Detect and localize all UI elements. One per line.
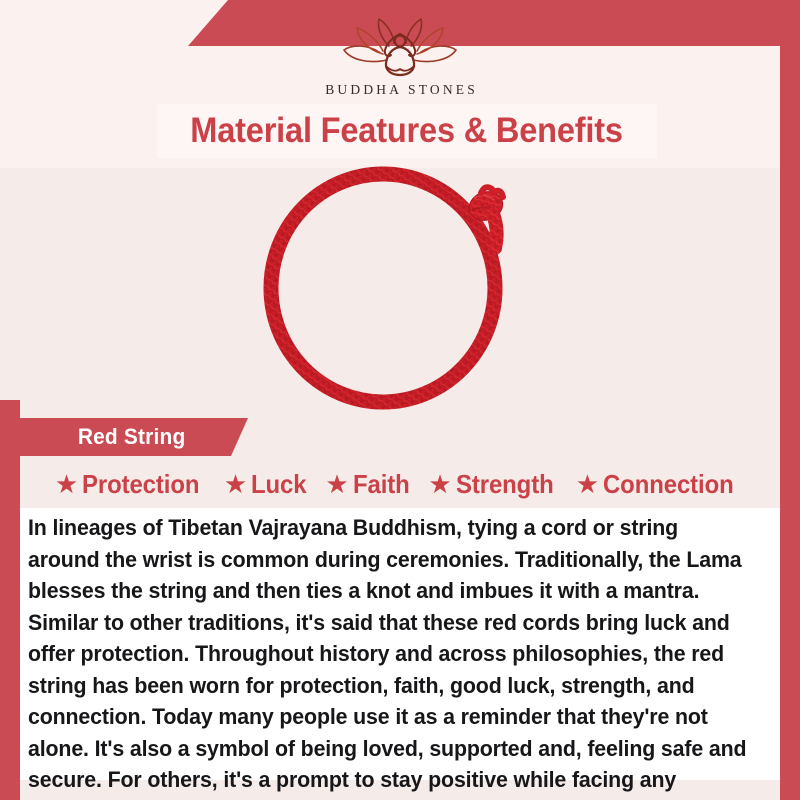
star-icon: ★ bbox=[224, 471, 247, 497]
benefit-label: Protection bbox=[82, 469, 199, 500]
benefit-label: Strength bbox=[456, 469, 554, 500]
product-image-area bbox=[0, 168, 800, 418]
benefit-item-connection: ★ Connection bbox=[569, 469, 752, 500]
infographic-page: BUDDHA STONES Material Features & Benefi… bbox=[0, 0, 800, 800]
star-icon: ★ bbox=[576, 471, 599, 497]
brand-logo: BUDDHA STONES bbox=[0, 14, 800, 98]
title-banner: Material Features & Benefits bbox=[157, 104, 657, 158]
star-icon: ★ bbox=[325, 471, 348, 497]
product-label-banner: Red String bbox=[20, 418, 248, 456]
lotus-meditation-figure-icon bbox=[325, 14, 475, 80]
product-label: Red String bbox=[78, 424, 186, 450]
left-red-strip bbox=[0, 400, 20, 800]
benefit-item-faith: ★ Faith bbox=[318, 469, 421, 500]
benefits-row: ★ Protection ★ Luck ★ Faith ★ Strength ★… bbox=[20, 462, 780, 506]
benefit-item-luck: ★ Luck bbox=[217, 469, 319, 500]
benefit-item-strength: ★ Strength bbox=[421, 469, 568, 500]
page-title: Material Features & Benefits bbox=[191, 111, 624, 151]
benefit-label: Luck bbox=[251, 469, 306, 500]
star-icon: ★ bbox=[55, 471, 78, 497]
benefit-item-protection: ★ Protection bbox=[48, 469, 217, 500]
description-text: In lineages of Tibetan Vajrayana Buddhis… bbox=[28, 512, 755, 800]
red-string-bracelet-image bbox=[255, 166, 545, 416]
brand-name: BUDDHA STONES bbox=[322, 82, 478, 98]
star-icon: ★ bbox=[428, 471, 451, 497]
right-red-strip bbox=[780, 46, 800, 800]
benefit-label: Faith bbox=[353, 469, 410, 500]
description-panel: In lineages of Tibetan Vajrayana Buddhis… bbox=[20, 508, 780, 780]
benefit-label: Connection bbox=[603, 469, 734, 500]
